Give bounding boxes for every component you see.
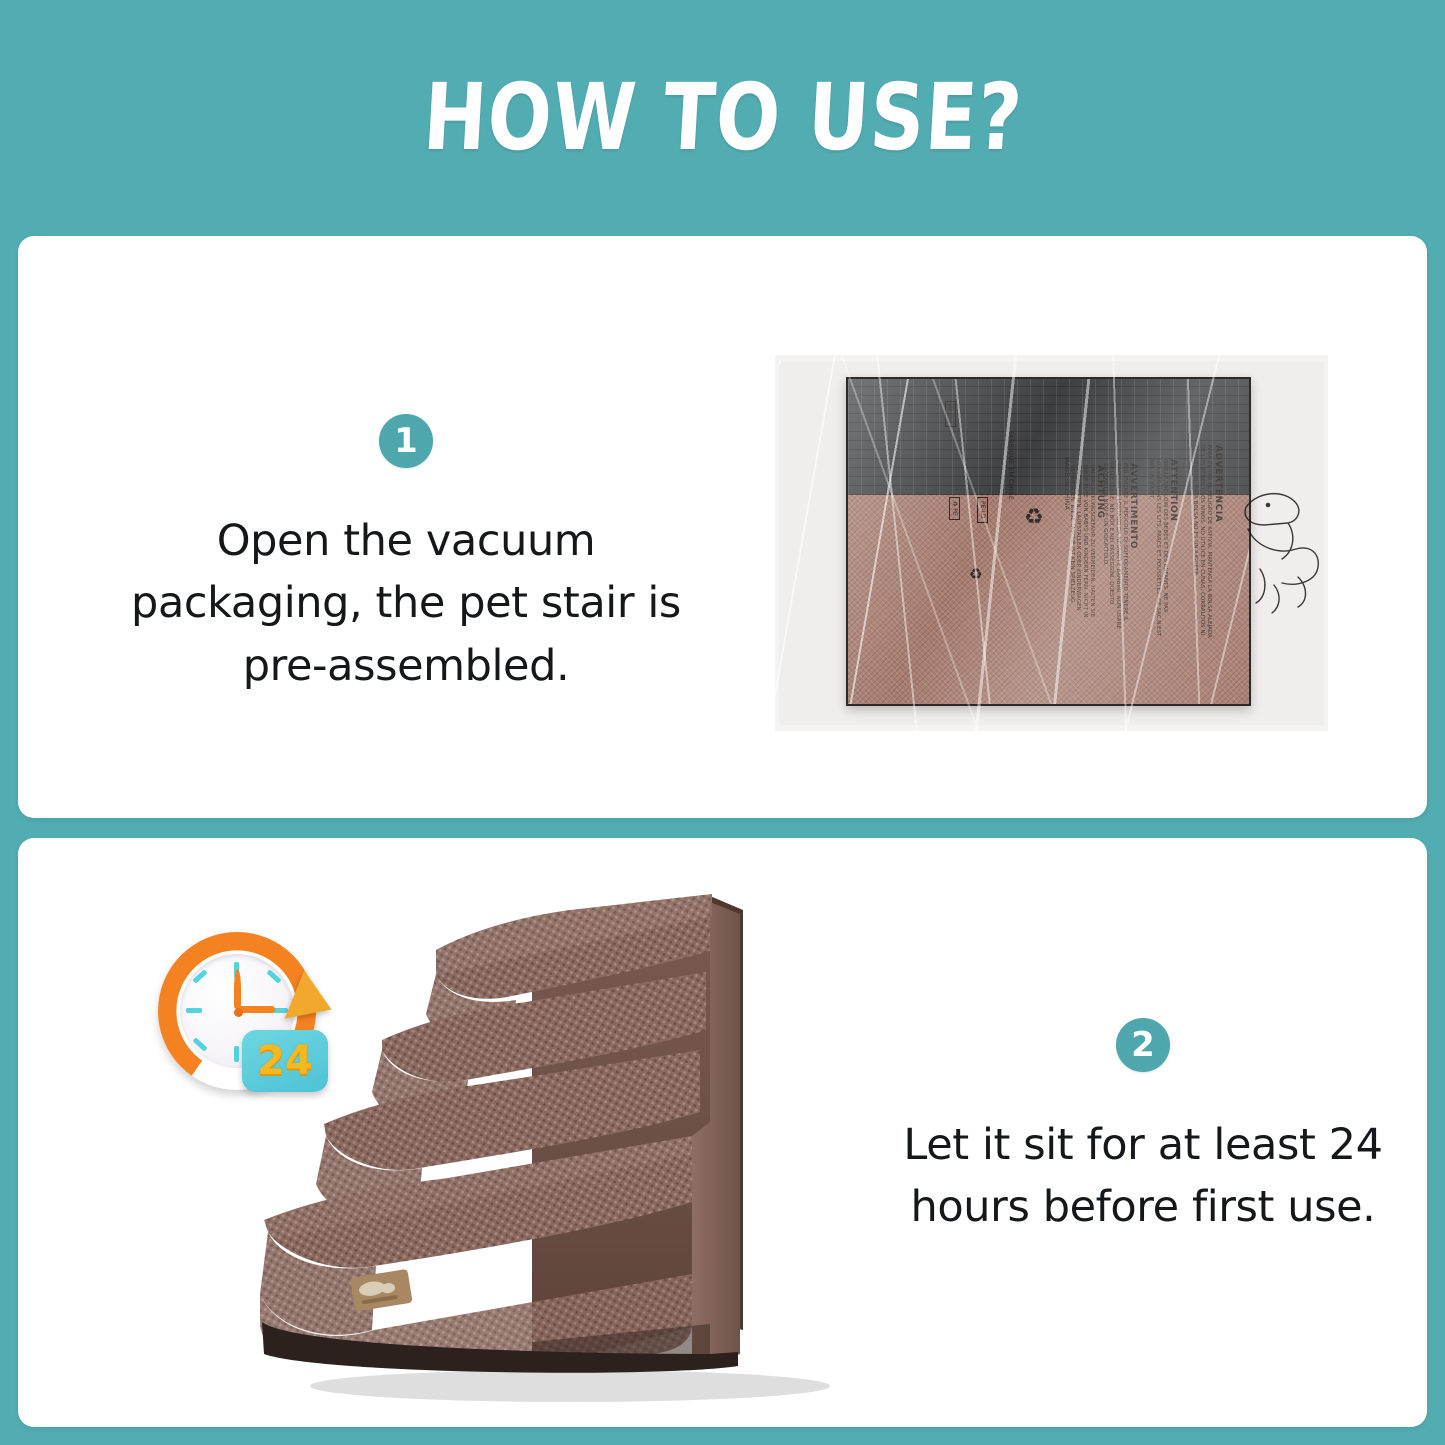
header-banner: HOW TO USE? <box>0 0 1445 236</box>
step-2-description: Let it sit for at least 24 hours before … <box>853 1114 1427 1239</box>
stair-brown-section <box>848 495 1249 704</box>
warning-heading-avvertimento: AVVERTIMENTO <box>1128 463 1138 549</box>
step-2-badge: 2 <box>1116 1018 1170 1072</box>
warning-heading-advertencia: ADVERTENCIA <box>1213 445 1223 522</box>
clock-tick-7 <box>192 1037 207 1051</box>
barcode-symbol-box: ||| ||| | <box>945 401 956 427</box>
step-card-1: 1 Open the vacuum packaging, the pet sta… <box>18 236 1427 818</box>
warning-body-german: UM ERSTICKUNGSGEFAHR ZU VERMEIDEN, HALTE… <box>1068 465 1095 635</box>
warning-heading-attention: ATTENTION <box>1168 459 1178 522</box>
pet-stair-photo <box>240 854 860 1420</box>
pet-stair-svg <box>240 854 860 1420</box>
stair-dark-section <box>848 379 1249 495</box>
pe-ld-code: PE-LD <box>977 497 988 523</box>
compressed-pet-stair: MADE IN CHINA FABRIQUE EN CHINE ACHTUNG … <box>846 377 1251 706</box>
recycle-triangle-icon: ♻ <box>1024 507 1044 529</box>
fabrique-en-chine-text: FABRIQUE EN CHINE <box>1007 431 1014 500</box>
clock-tick-9 <box>186 1008 202 1013</box>
page-title: HOW TO USE? <box>421 72 1025 164</box>
recycle-mobius-icon: ♻ <box>969 567 982 582</box>
warning-body-french: QUE LE SAC LOIN DES BEBES ET DES ENFANTS… <box>1148 459 1168 637</box>
step-1-description: Open the vacuum packaging, the pet stair… <box>96 510 716 697</box>
step-1-text-block: 1 Open the vacuum packaging, the pet sta… <box>96 414 716 697</box>
pet-line-art-icon <box>1238 473 1334 623</box>
clock-tick-11 <box>192 969 207 983</box>
warning-body-spanish: PARA EVITAR EL PELIGRO DE ASFIXIA, MANTE… <box>1192 445 1212 640</box>
step-card-2: 24 <box>18 838 1427 1427</box>
recycle-symbol-box: ♻ PE <box>949 497 960 520</box>
vacuum-package-photo: MADE IN CHINA FABRIQUE EN CHINE ACHTUNG … <box>775 355 1328 731</box>
clock-tick-6 <box>234 1046 239 1062</box>
warning-body-italian: PER EVITARE IL PERICOLO DI SOFFOCAMENTO … <box>1101 463 1128 638</box>
infographic-page: HOW TO USE? 1 Open the vacuum packaging,… <box>0 0 1445 1445</box>
step-2-text-block: 2 Let it sit for at least 24 hours befor… <box>853 1018 1427 1239</box>
step-1-badge: 1 <box>379 414 433 468</box>
